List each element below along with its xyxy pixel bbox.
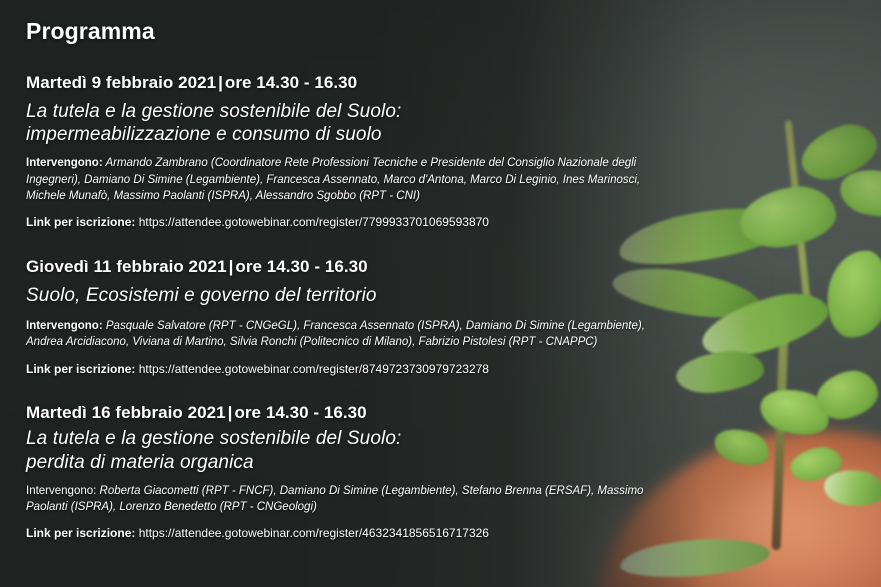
session-2-link-line[interactable]: Link per iscrizione: https://attendee.go…	[26, 362, 881, 378]
session-2-registration-link[interactable]: https://attendee.gotowebinar.com/registe…	[139, 362, 489, 376]
session-1-date-line: Martedì 9 febbraio 2021|ore 14.30 - 16.3…	[26, 73, 881, 93]
session-1-title: La tutela e la gestione sostenibile del …	[26, 100, 881, 146]
session-1-separator: |	[216, 73, 225, 92]
session-1-speakers-list: Armando Zambrano (Coordinatore Rete Prof…	[26, 157, 640, 202]
session-3-link-line[interactable]: Link per iscrizione: https://attendee.go…	[26, 526, 881, 542]
session-1-link-label: Link per iscrizione:	[26, 215, 135, 229]
session-2-speakers-list: Pasquale Salvatore (RPT - CNGeGL), Franc…	[26, 320, 645, 348]
session-block-2: Giovedì 11 febbraio 2021|ore 14.30 - 16.…	[26, 257, 881, 377]
session-3-speakers: Intervengono: Roberta Giacometti (RPT - …	[26, 483, 656, 516]
programme-poster: Programma Martedì 9 febbraio 2021|ore 14…	[0, 0, 881, 587]
session-3-speakers-label: Intervengono:	[26, 485, 96, 497]
session-1-registration-link[interactable]: https://attendee.gotowebinar.com/registe…	[139, 215, 489, 229]
session-1-date: Martedì 9 febbraio 2021	[26, 73, 216, 92]
session-3-registration-link[interactable]: https://attendee.gotowebinar.com/registe…	[139, 526, 489, 540]
session-2-title: Suolo, Ecosistemi e governo del territor…	[26, 284, 881, 307]
session-1-speakers: Intervengono: Armando Zambrano (Coordina…	[26, 155, 656, 204]
session-2-speakers: Intervengono: Pasquale Salvatore (RPT - …	[26, 318, 656, 351]
session-1-title-line-1: La tutela e la gestione sostenibile del …	[26, 100, 881, 123]
session-3-speakers-list: Roberta Giacometti (RPT - FNCF), Damiano…	[26, 485, 643, 513]
session-1-time: ore 14.30 - 16.30	[225, 73, 357, 92]
session-3-title-line-1: La tutela e la gestione sostenibile del …	[26, 427, 881, 450]
session-2-speakers-label: Intervengono:	[26, 320, 103, 332]
session-2-title-line-1: Suolo, Ecosistemi e governo del territor…	[26, 284, 881, 307]
session-3-title-line-2: perdita di materia organica	[26, 451, 881, 474]
session-3-time: ore 14.30 - 16.30	[234, 403, 366, 422]
session-1-speakers-label: Intervengono:	[26, 157, 103, 169]
session-2-time: ore 14.30 - 16.30	[235, 257, 367, 276]
session-3-date-line: Martedì 16 febbraio 2021|ore 14.30 - 16.…	[26, 403, 881, 423]
session-3-title: La tutela e la gestione sostenibile del …	[26, 427, 881, 473]
session-3-link-label: Link per iscrizione:	[26, 526, 135, 540]
session-block-1: Martedì 9 febbraio 2021|ore 14.30 - 16.3…	[26, 73, 881, 231]
session-3-date: Martedì 16 febbraio 2021	[26, 403, 226, 422]
session-1-title-line-2: impermeabilizzazione e consumo di suolo	[26, 123, 881, 146]
programme-content: Programma Martedì 9 febbraio 2021|ore 14…	[0, 0, 881, 587]
session-2-date: Giovedì 11 febbraio 2021	[26, 257, 227, 276]
session-2-link-label: Link per iscrizione:	[26, 362, 135, 376]
session-2-date-line: Giovedì 11 febbraio 2021|ore 14.30 - 16.…	[26, 257, 881, 277]
session-block-3: Martedì 16 febbraio 2021|ore 14.30 - 16.…	[26, 403, 881, 542]
session-1-link-line[interactable]: Link per iscrizione: https://attendee.go…	[26, 215, 881, 231]
page-title: Programma	[26, 18, 881, 45]
